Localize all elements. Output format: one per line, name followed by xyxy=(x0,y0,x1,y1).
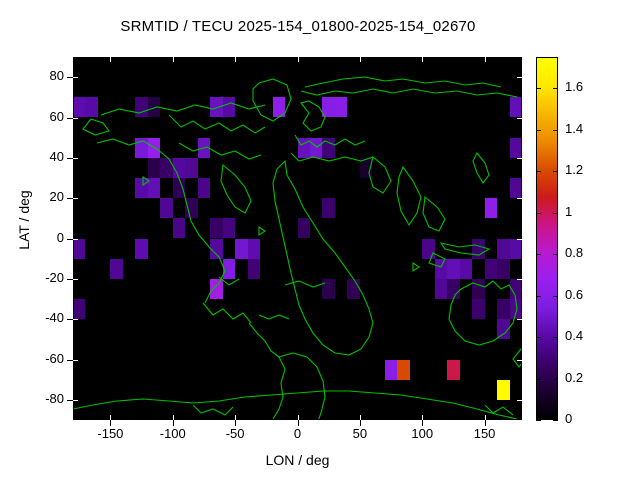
x-tick-mark xyxy=(360,415,361,420)
y-tick-mark xyxy=(517,360,522,361)
colorbar-tick-label: 0.6 xyxy=(565,287,583,302)
y-tick-mark xyxy=(73,239,78,240)
y-tick-mark xyxy=(517,400,522,401)
colorbar-tick-mark xyxy=(553,88,558,89)
x-tick-mark xyxy=(485,415,486,420)
colorbar-tick-mark xyxy=(536,296,541,297)
colorbar-tick-label: 1 xyxy=(565,204,572,219)
y-tick-mark xyxy=(517,158,522,159)
y-tick-mark xyxy=(73,198,78,199)
y-tick-mark xyxy=(73,77,78,78)
y-tick-label: 40 xyxy=(0,149,64,164)
y-tick-mark xyxy=(73,360,78,361)
y-tick-label: 20 xyxy=(0,189,64,204)
x-tick-label: 50 xyxy=(325,426,395,441)
x-tick-label: -50 xyxy=(200,426,270,441)
x-axis-title: LON / deg xyxy=(73,452,522,468)
colorbar-tick-label: 1.6 xyxy=(565,79,583,94)
y-tick-mark xyxy=(73,319,78,320)
y-tick-label: 80 xyxy=(0,68,64,83)
colorbar[interactable] xyxy=(536,57,558,420)
colorbar-tick-mark xyxy=(536,337,541,338)
y-axis-title: LAT / deg xyxy=(16,160,32,280)
colorbar-tick-mark xyxy=(536,171,541,172)
x-tick-mark xyxy=(110,57,111,62)
x-tick-mark xyxy=(110,420,111,426)
x-tick-label: 100 xyxy=(387,426,457,441)
x-tick-label: 150 xyxy=(450,426,520,441)
x-tick-mark xyxy=(422,57,423,62)
colorbar-tick-mark xyxy=(553,379,558,380)
colorbar-tick-label: 1.2 xyxy=(565,162,583,177)
colorbar-gradient xyxy=(537,58,557,419)
y-tick-mark xyxy=(517,319,522,320)
x-tick-label: 0 xyxy=(263,426,333,441)
colorbar-tick-mark xyxy=(536,88,541,89)
y-tick-mark xyxy=(517,239,522,240)
colorbar-tick-mark xyxy=(536,254,541,255)
x-tick-mark xyxy=(235,415,236,420)
plot-frame xyxy=(73,57,522,420)
y-tick-label: -60 xyxy=(0,351,64,366)
x-tick-mark xyxy=(110,415,111,420)
y-tick-mark xyxy=(73,279,78,280)
x-tick-mark xyxy=(173,415,174,420)
figure-canvas: SRMTID / TECU 2025-154_01800-2025-154_02… xyxy=(0,0,640,480)
x-tick-mark xyxy=(298,415,299,420)
y-tick-mark xyxy=(517,77,522,78)
y-tick-label: -20 xyxy=(0,270,64,285)
x-tick-mark xyxy=(360,57,361,62)
y-tick-mark xyxy=(73,400,78,401)
x-tick-mark xyxy=(173,420,174,426)
y-tick-mark xyxy=(517,118,522,119)
x-tick-mark xyxy=(485,57,486,62)
x-tick-mark xyxy=(360,420,361,426)
colorbar-tick-label: 0.8 xyxy=(565,245,583,260)
colorbar-tick-mark xyxy=(536,130,541,131)
map-plot-area[interactable] xyxy=(73,57,522,420)
y-tick-label: 0 xyxy=(0,230,64,245)
x-tick-mark xyxy=(235,420,236,426)
colorbar-tick-mark xyxy=(553,213,558,214)
y-tick-mark xyxy=(517,198,522,199)
colorbar-tick-mark xyxy=(553,296,558,297)
x-tick-mark xyxy=(422,420,423,426)
x-tick-mark xyxy=(235,57,236,62)
y-tick-mark xyxy=(73,158,78,159)
colorbar-tick-mark xyxy=(553,171,558,172)
x-tick-mark xyxy=(173,57,174,62)
colorbar-tick-mark xyxy=(536,213,541,214)
x-tick-mark xyxy=(422,415,423,420)
x-tick-mark xyxy=(485,420,486,426)
y-tick-mark xyxy=(517,279,522,280)
chart-title: SRMTID / TECU 2025-154_01800-2025-154_02… xyxy=(0,18,596,35)
y-tick-label: 60 xyxy=(0,109,64,124)
colorbar-tick-label: 1.4 xyxy=(565,121,583,136)
x-tick-label: -150 xyxy=(75,426,145,441)
x-tick-label: -100 xyxy=(138,426,208,441)
colorbar-tick-label: 0 xyxy=(565,411,572,426)
colorbar-tick-mark xyxy=(553,130,558,131)
colorbar-tick-mark xyxy=(536,420,541,421)
y-tick-label: -40 xyxy=(0,310,64,325)
colorbar-tick-mark xyxy=(553,337,558,338)
y-tick-label: -80 xyxy=(0,391,64,406)
colorbar-tick-mark xyxy=(553,254,558,255)
colorbar-tick-label: 0.4 xyxy=(565,328,583,343)
colorbar-tick-mark xyxy=(553,420,558,421)
colorbar-tick-label: 0.2 xyxy=(565,370,583,385)
y-tick-mark xyxy=(73,118,78,119)
x-tick-mark xyxy=(298,57,299,62)
x-tick-mark xyxy=(298,420,299,426)
colorbar-tick-mark xyxy=(536,379,541,380)
